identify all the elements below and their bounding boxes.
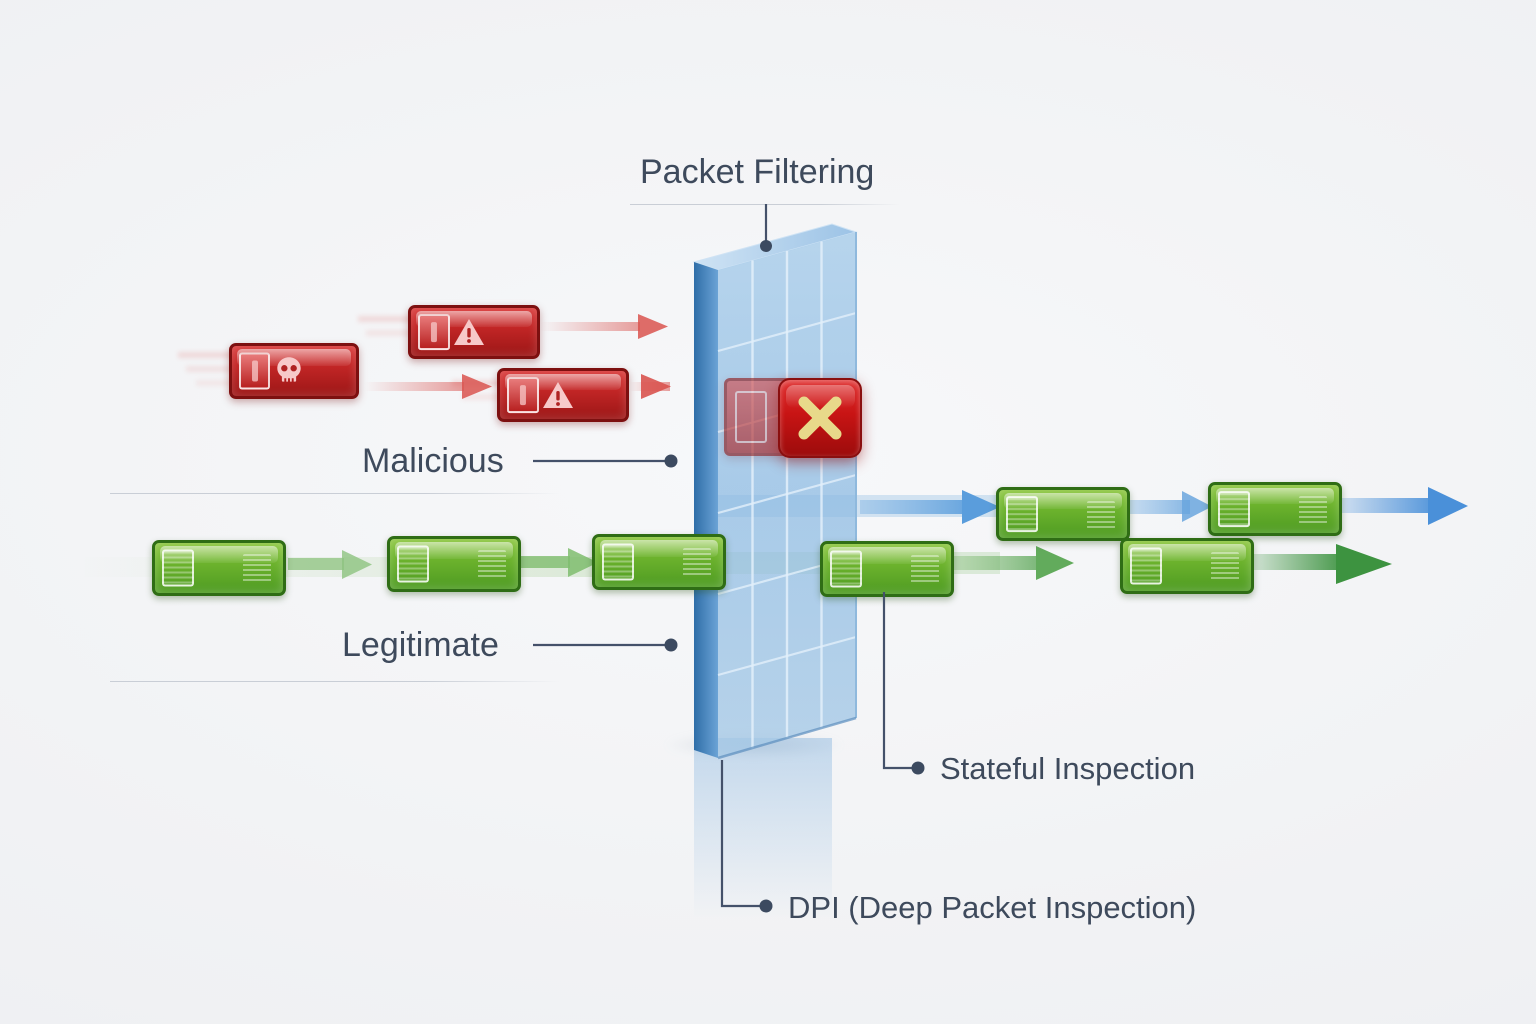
label-dpi: DPI (Deep Packet Inspection) — [788, 890, 1196, 926]
leader-line-layer — [0, 0, 1536, 1024]
malicious-underline — [110, 493, 560, 494]
legitimate-underline — [110, 681, 560, 682]
label-stateful-inspection: Stateful Inspection — [940, 751, 1195, 787]
label-malicious: Malicious — [362, 442, 504, 481]
diagram-canvas: Packet Filtering Malicious Legitimate St… — [0, 0, 1536, 1024]
label-legitimate: Legitimate — [342, 626, 499, 665]
